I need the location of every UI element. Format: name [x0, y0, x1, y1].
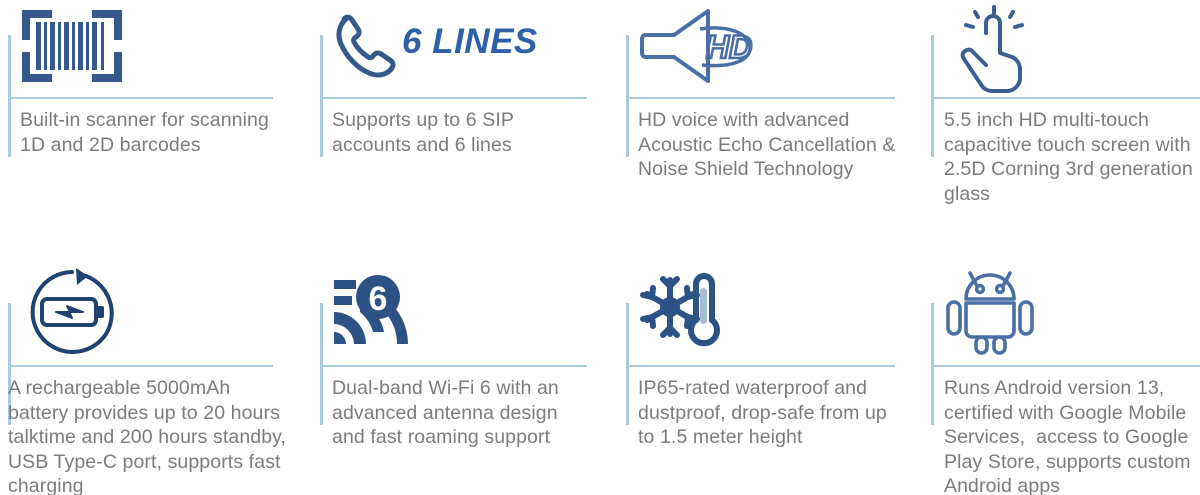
feature-caption: HD voice with advanced Acoustic Echo Can…: [638, 108, 906, 182]
feature-cell-hd-voice: HD HD voice with advanced Acoustic Echo …: [612, 0, 918, 248]
hd-label-text: HD: [706, 29, 752, 65]
wifi-6-icon: 6: [330, 270, 410, 354]
barcode-scanner-icon: [20, 4, 124, 88]
feature-caption: Runs Android version 13, certified with …: [944, 376, 1200, 495]
feature-caption: Built-in scanner for scanning 1D and 2D …: [20, 108, 286, 157]
divider-vertical: [320, 303, 323, 425]
feature-cell-battery: A rechargeable 5000mAh battery provides …: [0, 248, 302, 495]
divider-vertical: [8, 35, 11, 157]
lines-label-text: 6 LINES: [402, 22, 538, 61]
feature-grid: Built-in scanner for scanning 1D and 2D …: [0, 0, 1200, 495]
snowflake-thermometer-icon: [636, 270, 728, 354]
divider-horizontal: [320, 97, 587, 99]
divider-vertical: [626, 35, 629, 157]
feature-cell-android: Runs Android version 13, certified with …: [918, 248, 1200, 495]
feature-cell-ip65: IP65-rated waterproof and dustproof, dro…: [612, 248, 918, 495]
feature-caption: Dual-band Wi-Fi 6 with an advanced anten…: [332, 376, 594, 450]
feature-caption: 5.5 inch HD multi-touch capacitive touch…: [944, 108, 1200, 206]
divider-horizontal: [8, 97, 273, 99]
divider-vertical: [626, 303, 629, 425]
feature-caption: IP65-rated waterproof and dustproof, dro…: [638, 376, 906, 450]
divider-vertical: [931, 303, 934, 425]
divider-horizontal: [931, 365, 1200, 367]
divider-horizontal: [8, 365, 273, 367]
feature-cell-scanner: Built-in scanner for scanning 1D and 2D …: [0, 0, 302, 248]
divider-vertical: [320, 35, 323, 157]
wifi6-label-text: 6: [369, 280, 388, 318]
feature-caption: A rechargeable 5000mAh battery provides …: [8, 376, 290, 495]
divider-vertical: [931, 35, 934, 157]
divider-horizontal: [626, 97, 895, 99]
feature-cell-wifi6: 6 Dual-band Wi-Fi 6 with an advanced ant…: [302, 248, 612, 495]
android-robot-icon: [944, 270, 1036, 354]
phone-handset-6-lines-icon: 6 LINES: [330, 4, 490, 88]
rechargeable-battery-icon: [20, 270, 122, 354]
hd-speaker-icon: HD: [636, 4, 762, 88]
feature-cell-sip-lines: 6 LINES Supports up to 6 SIP accounts an…: [302, 0, 612, 248]
divider-horizontal: [626, 365, 895, 367]
feature-caption: Supports up to 6 SIP accounts and 6 line…: [332, 108, 594, 157]
feature-grid-sheet: Built-in scanner for scanning 1D and 2D …: [0, 0, 1200, 495]
feature-cell-touchscreen: 5.5 inch HD multi-touch capacitive touch…: [918, 0, 1200, 248]
touch-hand-tap-icon: [944, 4, 1044, 88]
divider-horizontal: [931, 97, 1200, 99]
divider-horizontal: [320, 365, 587, 367]
